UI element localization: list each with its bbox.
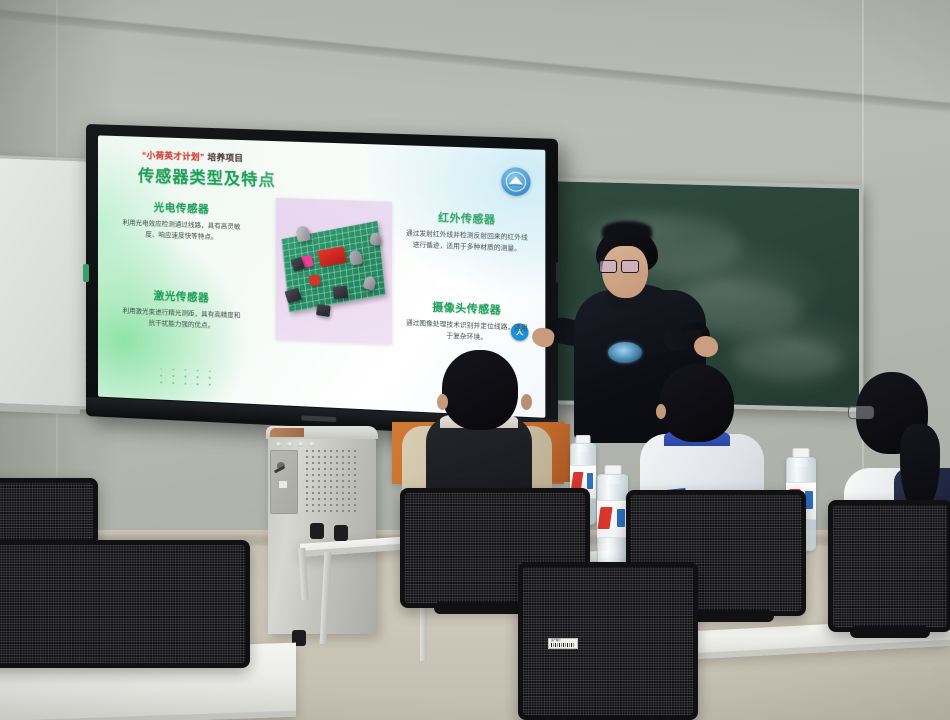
- school-logo-icon: [501, 167, 530, 197]
- slide-center-photo: [276, 198, 392, 345]
- label-blue-block: [587, 473, 594, 489]
- water-bottle-2[interactable]: [597, 474, 628, 570]
- chair-foreground-3[interactable]: 资产编号: [518, 562, 698, 720]
- component-transistor: [332, 286, 348, 300]
- chair-student-3[interactable]: [828, 500, 950, 632]
- knob[interactable]: [309, 442, 314, 447]
- knob[interactable]: [287, 442, 292, 447]
- student-1-head: [442, 350, 518, 430]
- section-body: 利用激光束进行精光测距，具有高精度和抗干扰能力强的优点。: [120, 305, 243, 333]
- lectern[interactable]: [268, 424, 390, 642]
- section-heading: 光电传感器: [120, 198, 243, 218]
- slide-section-infrared: 红外传感器 通过发射红外线并检测反射回来的红外线进行循迹，适用于多种材质的测量。: [403, 208, 530, 255]
- lectern-control-knobs[interactable]: [276, 442, 314, 447]
- slide-section-laser: 激光传感器 利用激光束进行精光测距，具有高精度和抗干扰能力强的优点。: [120, 286, 243, 333]
- label-red-block: [598, 507, 613, 529]
- bottle-label: [597, 500, 628, 538]
- desk-foot: [310, 523, 324, 539]
- label-blue-block: [805, 491, 813, 509]
- speaker-grille-icon: [304, 448, 358, 516]
- student-1-ear: [521, 394, 532, 410]
- section-heading: 摄像头传感器: [403, 298, 530, 319]
- chair-mesh-back: [0, 540, 250, 668]
- glasses-lens-right: [621, 260, 639, 273]
- chair-lumbar-bar: [850, 626, 929, 638]
- label-blue-block: [617, 509, 625, 527]
- presenter-ear: [638, 266, 648, 280]
- glasses-lens-left: [599, 260, 617, 273]
- section-body: 通过图像处理技术识别并定位线路，适用于复杂环境。: [403, 317, 530, 345]
- mountain-wave-glyph: [505, 171, 526, 192]
- student-2-head: [660, 364, 734, 442]
- section-body: 通过发射红外线并检测反射回来的红外线进行循迹，适用于多种材质的测量。: [403, 228, 530, 256]
- presenter-right-hand: [694, 336, 718, 357]
- display-brand-strip: [301, 415, 336, 422]
- barcode-icon: [551, 643, 575, 647]
- slide-kicker-quoted: “小荷英才计划”: [142, 150, 204, 162]
- slide-section-camera: 摄像头传感器 通过图像处理技术识别并定位线路，适用于复杂环境。: [403, 298, 530, 346]
- student-3-glasses-icon: [848, 406, 874, 419]
- lectern-wood-trim: [270, 428, 304, 437]
- section-heading: 激光传感器: [120, 286, 243, 306]
- component-red-cap: [309, 275, 321, 286]
- chair-mesh-back: [828, 500, 950, 632]
- student-2-ear: [656, 404, 666, 419]
- chair-mesh-back: [518, 562, 698, 720]
- section-heading: 红外传感器: [403, 208, 530, 228]
- chair-asset-tag: 资产编号: [548, 638, 578, 649]
- student-1-ear: [437, 394, 448, 410]
- knob[interactable]: [298, 442, 303, 447]
- slide-dot-decoration-left: [160, 368, 216, 386]
- knob[interactable]: [276, 442, 281, 447]
- desk-foot: [334, 525, 348, 541]
- slide-section-photoelectric: 光电传感器 利用光电效应检测通过线路，具有高灵敏度、响应速度快等特点。: [120, 198, 243, 244]
- classroom-scene: “小荷英才计划”培养项目 传感器类型及特点 人 光电传感器: [0, 0, 950, 720]
- component-capacitor-silver: [370, 233, 380, 246]
- display-side-port[interactable]: [556, 262, 561, 283]
- presenter-glasses: [599, 260, 639, 271]
- component-capacitor-silver: [295, 225, 311, 242]
- chair-foreground-2[interactable]: [0, 540, 250, 668]
- display-power-indicator[interactable]: [83, 264, 89, 282]
- wall-top-shading: [0, 0, 950, 130]
- hoodie-chest-logo: [608, 342, 642, 363]
- component-transistor: [316, 304, 330, 317]
- lectern-label-plate: [278, 480, 288, 489]
- slide-kicker-suffix: 培养项目: [208, 152, 244, 163]
- section-body: 利用光电效应检测通过线路，具有高灵敏度、响应速度快等特点。: [120, 217, 243, 244]
